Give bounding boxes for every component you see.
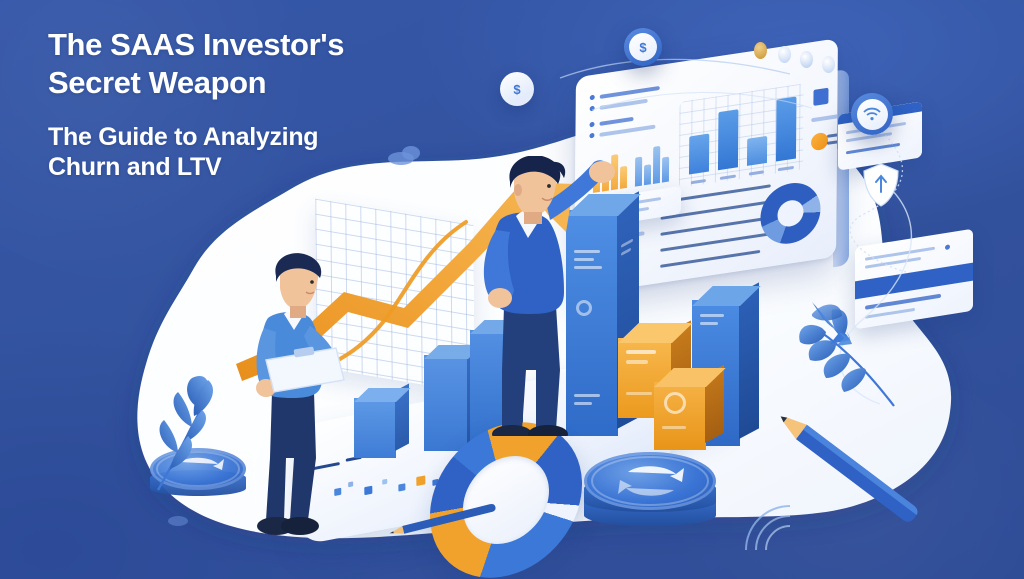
person-ear [514, 184, 522, 196]
shield-icon [862, 163, 900, 207]
bubble-light-3 [822, 56, 835, 73]
headline-block: The SAAS Investor's Secret Weapon The Gu… [48, 26, 468, 182]
box-label-line [662, 426, 686, 429]
subtitle-line-2: Churn and LTV [48, 152, 468, 182]
dollar-icon: $ [629, 33, 657, 61]
arrow-down-icon [806, 300, 854, 360]
box-stamp-icon [664, 392, 686, 414]
title-line-1: The SAAS Investor's [48, 26, 468, 64]
person-trousers [502, 306, 560, 430]
connector-line [560, 59, 790, 78]
page-title: The SAAS Investor's Secret Weapon [48, 26, 468, 102]
hero-banner: $ $ [0, 0, 1024, 579]
person-shoe [492, 425, 532, 436]
wifi-icon [857, 99, 888, 130]
connector-line [592, 92, 812, 110]
bar-detail-line [700, 314, 724, 317]
title-line-2: Secret Weapon [48, 64, 468, 102]
page-subtitle: The Guide to Analyzing Churn and LTV [48, 122, 468, 182]
person-neck [524, 212, 542, 224]
analyst-with-clipboard [232, 252, 382, 552]
signal-arcs-icon [740, 500, 810, 554]
bar-face-side [739, 282, 759, 439]
signal-badge [851, 93, 893, 135]
platform-dot [416, 475, 425, 486]
chart-badge: $ [500, 72, 534, 106]
coin-symbol-icon [584, 452, 716, 510]
person-shoe [528, 425, 568, 436]
person-shoe [281, 517, 319, 535]
cardboard-box [654, 382, 706, 450]
box-face-front [654, 382, 706, 450]
platform-dot [382, 479, 387, 485]
person-neck [290, 306, 306, 318]
person-hand [488, 288, 512, 308]
bubble-light-2 [800, 51, 813, 68]
dollar-icon: $ [513, 82, 520, 97]
bar-detail-line [700, 322, 718, 325]
analyst-lifting-growth-arrow [452, 156, 642, 436]
dollar-badge: $ [624, 28, 662, 66]
person-trousers [266, 392, 316, 520]
bubble-light-1 [778, 46, 791, 63]
platform-dot [398, 483, 405, 491]
person-hand [589, 161, 615, 183]
wifi-icon [863, 107, 881, 121]
coin-stack-top [584, 452, 716, 510]
bubble-gold [754, 42, 767, 59]
subtitle-line-1: The Guide to Analyzing [48, 122, 468, 152]
person-eye [547, 184, 551, 188]
shield-badge [862, 163, 900, 207]
person-eye [310, 280, 314, 284]
